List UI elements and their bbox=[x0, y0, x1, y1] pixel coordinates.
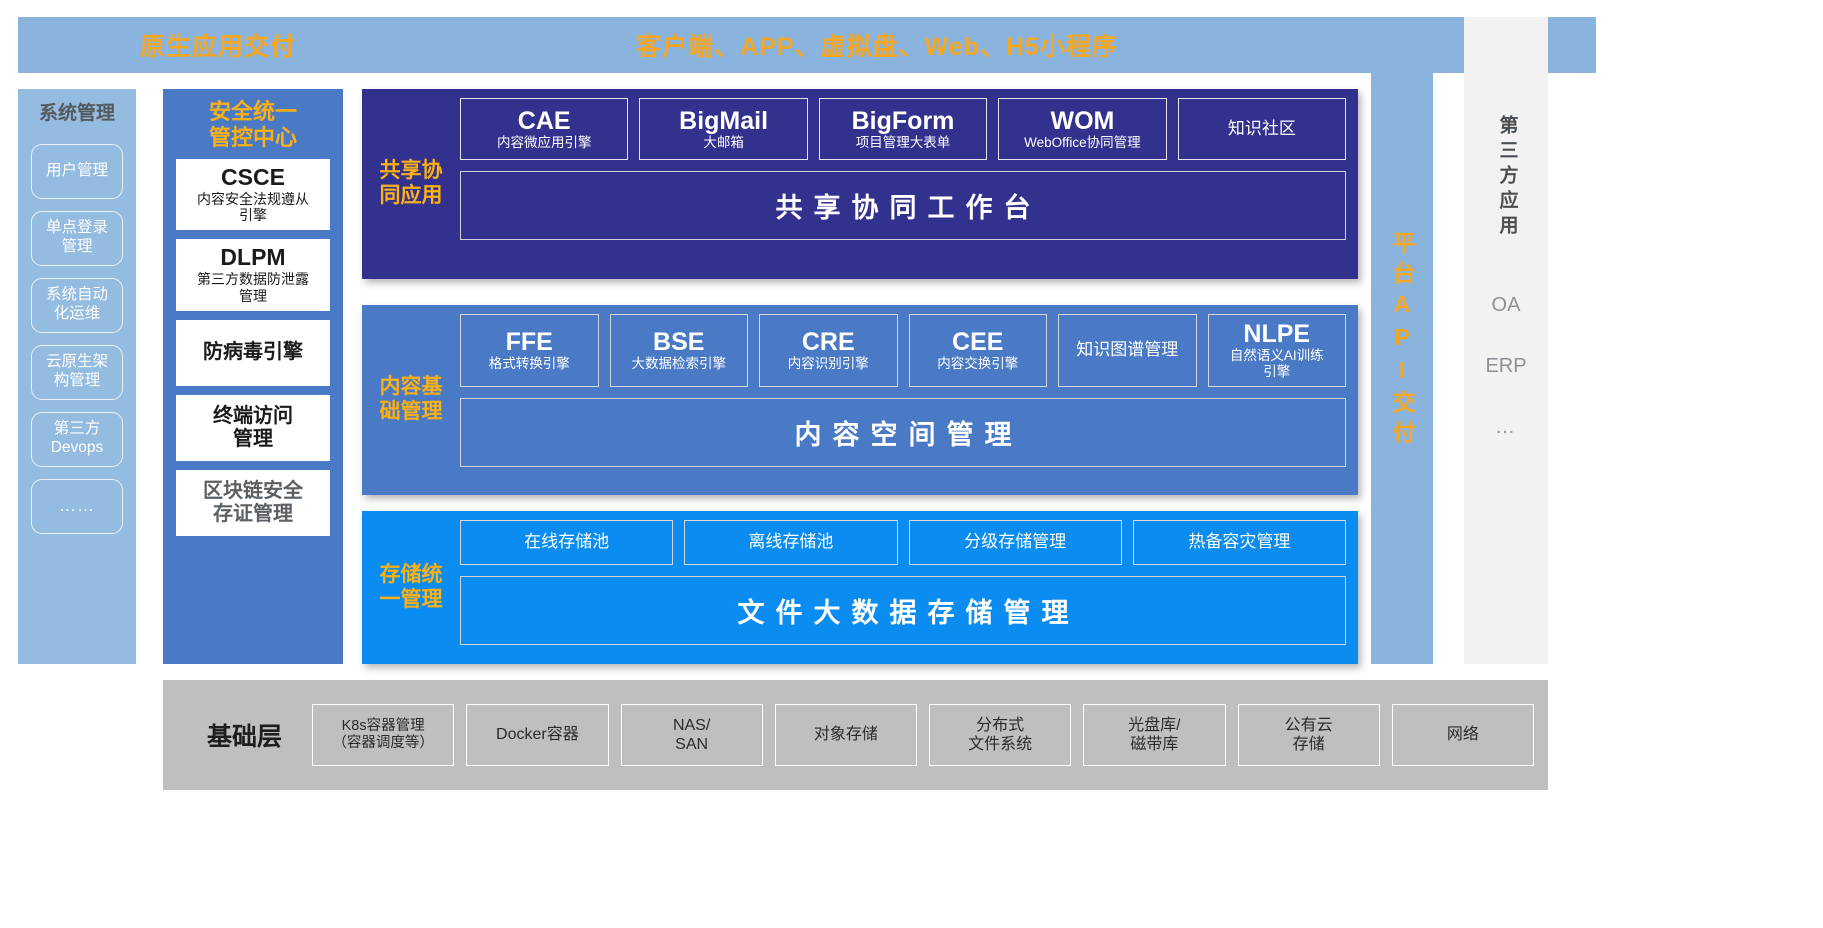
content-space-management-bar[interactable]: 内容空间管理 bbox=[460, 398, 1346, 467]
app-chip-bigmail[interactable]: BigMail 大邮箱 bbox=[639, 98, 807, 160]
security-card-csce-code: CSCE bbox=[180, 165, 326, 191]
shared-collaboration-label: 共享协同应用 bbox=[362, 89, 460, 279]
engine-chip-bse[interactable]: BSE 大数据检索引擎 bbox=[610, 314, 749, 387]
app-chip-knowledge-community-code: 知识社区 bbox=[1228, 120, 1296, 138]
engine-chip-bse-desc: 大数据检索引擎 bbox=[632, 356, 727, 372]
third-party-title: 第三方应用 bbox=[1496, 115, 1517, 240]
file-bigdata-storage-bar[interactable]: 文件大数据存储管理 bbox=[460, 576, 1346, 645]
third-party-item-more: … bbox=[1495, 416, 1517, 439]
platform-api-column: 平台API交付 bbox=[1371, 17, 1433, 664]
app-chip-bigmail-desc: 大邮箱 bbox=[703, 135, 744, 151]
security-card-terminal-access[interactable]: 终端访问管理 bbox=[176, 395, 330, 461]
sidebar-item-more[interactable]: …… bbox=[31, 479, 123, 534]
engine-chip-knowledge-graph-code: 知识图谱管理 bbox=[1076, 341, 1178, 359]
security-control-center-column: 安全统一管控中心 CSCE 内容安全法规遵从引擎 DLPM 第三方数据防泄露管理… bbox=[163, 89, 343, 664]
storage-chip-hot-standby-dr-code: 热备容灾管理 bbox=[1188, 533, 1290, 551]
security-card-blockchain-evidence-code: 区块链安全存证管理 bbox=[203, 480, 303, 525]
storage-chip-tiered-storage-code: 分级存储管理 bbox=[964, 533, 1066, 551]
security-card-antivirus[interactable]: 防病毒引擎 bbox=[176, 320, 330, 386]
sidebar-item-user-management[interactable]: 用户管理 bbox=[31, 144, 123, 199]
sidebar-item-sso-management[interactable]: 单点登录管理 bbox=[31, 211, 123, 266]
security-center-title: 安全统一管控中心 bbox=[176, 99, 330, 151]
storage-chip-offline-pool-code: 离线存储池 bbox=[748, 533, 833, 551]
security-card-terminal-access-code: 终端访问管理 bbox=[213, 405, 293, 450]
sidebar-item-third-party-devops[interactable]: 第三方Devops bbox=[31, 412, 123, 467]
delivery-title: 原生应用交付 bbox=[18, 27, 418, 63]
app-chip-wom-code: WOM bbox=[1050, 108, 1114, 135]
security-card-blockchain-evidence[interactable]: 区块链安全存证管理 bbox=[176, 470, 330, 536]
security-card-dlpm-code: DLPM bbox=[180, 245, 326, 271]
security-card-dlpm[interactable]: DLPM 第三方数据防泄露管理 bbox=[176, 239, 330, 310]
system-management-title: 系统管理 bbox=[18, 103, 136, 126]
storage-chip-hot-standby-dr[interactable]: 热备容灾管理 bbox=[1133, 520, 1346, 565]
infra-chip-distributed-fs[interactable]: 分布式文件系统 bbox=[929, 704, 1071, 766]
engine-chip-knowledge-graph[interactable]: 知识图谱管理 bbox=[1058, 314, 1197, 387]
storage-unified-band: 存储统一管理 在线存储池 离线存储池 分级存储管理 热备容灾管理 文件大数据存储… bbox=[362, 511, 1358, 664]
app-chip-cae-desc: 内容微应用引擎 bbox=[497, 135, 592, 151]
system-management-column: 系统管理 用户管理 单点登录管理 系统自动化运维 云原生架构管理 第三方Devo… bbox=[18, 89, 136, 664]
content-foundation-band: 内容基础管理 FFE 格式转换引擎 BSE 大数据检索引擎 CRE 内容识别引擎… bbox=[362, 305, 1358, 495]
engine-chip-cre-code: CRE bbox=[802, 329, 855, 356]
storage-chip-online-pool[interactable]: 在线存储池 bbox=[460, 520, 673, 565]
engine-chip-cee[interactable]: CEE 内容交换引擎 bbox=[909, 314, 1048, 387]
app-chip-bigform[interactable]: BigForm 项目管理大表单 bbox=[819, 98, 987, 160]
delivery-channels: 客户端、APP、虚拟盘、Web、H5小程序 bbox=[418, 27, 1336, 63]
app-chip-bigmail-code: BigMail bbox=[679, 108, 768, 135]
infra-chip-object-storage[interactable]: 对象存储 bbox=[775, 704, 917, 766]
platform-api-title: 平台API交付 bbox=[1390, 231, 1414, 450]
engine-chip-nlpe-desc: 自然语义AI训练引擎 bbox=[1230, 348, 1324, 380]
third-party-column: 第三方应用 OA ERP … bbox=[1464, 17, 1548, 664]
engine-chip-nlpe[interactable]: NLPE 自然语义AI训练引擎 bbox=[1208, 314, 1347, 387]
engine-chip-nlpe-code: NLPE bbox=[1243, 321, 1310, 348]
infra-chip-network[interactable]: 网络 bbox=[1392, 704, 1534, 766]
storage-chip-offline-pool[interactable]: 离线存储池 bbox=[684, 520, 897, 565]
storage-unified-label: 存储统一管理 bbox=[362, 511, 460, 664]
infra-chip-optical-tape-library[interactable]: 光盘库/磁带库 bbox=[1083, 704, 1225, 766]
sidebar-item-cloud-native-arch[interactable]: 云原生架构管理 bbox=[31, 345, 123, 400]
engine-chip-ffe-code: FFE bbox=[506, 329, 553, 356]
app-chip-cae[interactable]: CAE 内容微应用引擎 bbox=[460, 98, 628, 160]
security-card-dlpm-desc: 第三方数据防泄露管理 bbox=[180, 271, 326, 305]
app-chip-wom[interactable]: WOM WebOffice协同管理 bbox=[998, 98, 1166, 160]
security-card-csce-desc: 内容安全法规遵从引擎 bbox=[180, 191, 326, 225]
infrastructure-title: 基础层 bbox=[177, 717, 312, 753]
infra-chip-docker[interactable]: Docker容器 bbox=[466, 704, 608, 766]
security-card-antivirus-code: 防病毒引擎 bbox=[203, 341, 303, 363]
architecture-diagram: 原生应用交付 客户端、APP、虚拟盘、Web、H5小程序 系统管理 用户管理 单… bbox=[0, 0, 1823, 928]
infra-chip-nas-san[interactable]: NAS/SAN bbox=[621, 704, 763, 766]
infrastructure-layer: 基础层 K8s容器管理（容器调度等） Docker容器 NAS/SAN 对象存储… bbox=[163, 680, 1548, 790]
storage-chip-online-pool-code: 在线存储池 bbox=[524, 533, 609, 551]
engine-chip-cre-desc: 内容识别引擎 bbox=[788, 356, 869, 372]
infra-chip-k8s[interactable]: K8s容器管理（容器调度等） bbox=[312, 704, 454, 766]
app-chip-bigform-code: BigForm bbox=[852, 108, 955, 135]
shared-collaboration-band: 共享协同应用 CAE 内容微应用引擎 BigMail 大邮箱 BigForm 项… bbox=[362, 89, 1358, 279]
engine-chip-cee-code: CEE bbox=[952, 329, 1003, 356]
content-foundation-label: 内容基础管理 bbox=[362, 305, 460, 495]
engine-chip-ffe-desc: 格式转换引擎 bbox=[489, 356, 570, 372]
app-chip-cae-code: CAE bbox=[518, 108, 571, 135]
engine-chip-bse-code: BSE bbox=[653, 329, 704, 356]
infra-chip-public-cloud-storage[interactable]: 公有云存储 bbox=[1238, 704, 1380, 766]
engine-chip-cre[interactable]: CRE 内容识别引擎 bbox=[759, 314, 898, 387]
app-chip-wom-desc: WebOffice协同管理 bbox=[1024, 135, 1141, 151]
app-chip-bigform-desc: 项目管理大表单 bbox=[856, 135, 951, 151]
shared-collaboration-workbench-bar[interactable]: 共享协同工作台 bbox=[460, 171, 1346, 240]
storage-chip-tiered-storage[interactable]: 分级存储管理 bbox=[909, 520, 1122, 565]
third-party-item-erp: ERP bbox=[1485, 355, 1526, 378]
security-card-csce[interactable]: CSCE 内容安全法规遵从引擎 bbox=[176, 159, 330, 230]
native-app-delivery-bar: 原生应用交付 客户端、APP、虚拟盘、Web、H5小程序 bbox=[18, 17, 1596, 73]
engine-chip-ffe[interactable]: FFE 格式转换引擎 bbox=[460, 314, 599, 387]
app-chip-knowledge-community[interactable]: 知识社区 bbox=[1178, 98, 1346, 160]
engine-chip-cee-desc: 内容交换引擎 bbox=[937, 356, 1018, 372]
third-party-item-oa: OA bbox=[1492, 294, 1521, 317]
sidebar-item-automation-ops[interactable]: 系统自动化运维 bbox=[31, 278, 123, 333]
